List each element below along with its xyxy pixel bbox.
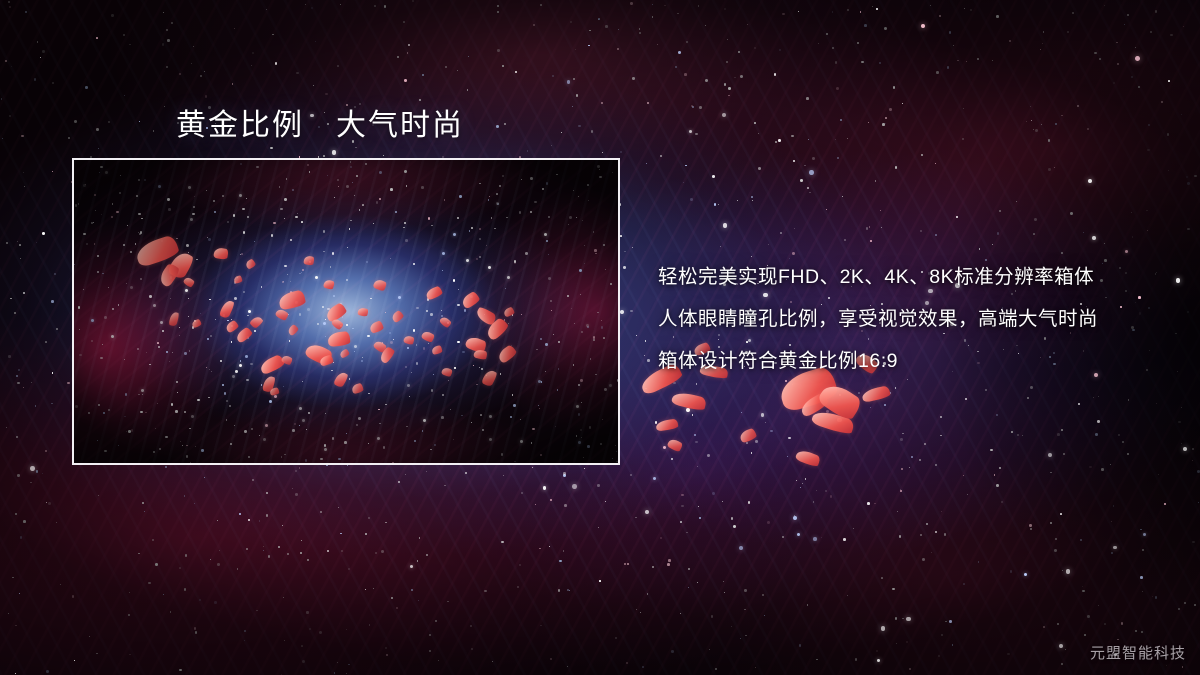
- petal: [671, 390, 707, 412]
- description-line-3: 箱体设计符合黄金比例16:9: [658, 340, 1178, 382]
- framed-image-inner: [74, 160, 618, 463]
- framed-vignette: [74, 160, 618, 463]
- petal: [861, 385, 891, 403]
- description-line-1: 轻松完美实现FHD、2K、4K、8K标准分辨率箱体: [658, 256, 1178, 298]
- petal: [795, 448, 822, 468]
- description-line-2: 人体眼睛瞳孔比例，享受视觉效果，高端大气时尚: [658, 298, 1178, 340]
- petal: [666, 437, 683, 453]
- page-title: 黄金比例 大气时尚: [176, 100, 464, 144]
- description-block: 轻松完美实现FHD、2K、4K、8K标准分辨率箱体 人体眼睛瞳孔比例，享受视觉效…: [658, 256, 1178, 382]
- watermark-label: 元盟智能科技: [1090, 642, 1186, 663]
- petal: [655, 419, 678, 432]
- presentation-slide: 黄金比例 大气时尚 轻松完美实现FHD、2K、4K、8K标准分辨率箱体 人体眼睛…: [0, 0, 1200, 675]
- petal: [739, 428, 758, 444]
- framed-image: [72, 158, 620, 465]
